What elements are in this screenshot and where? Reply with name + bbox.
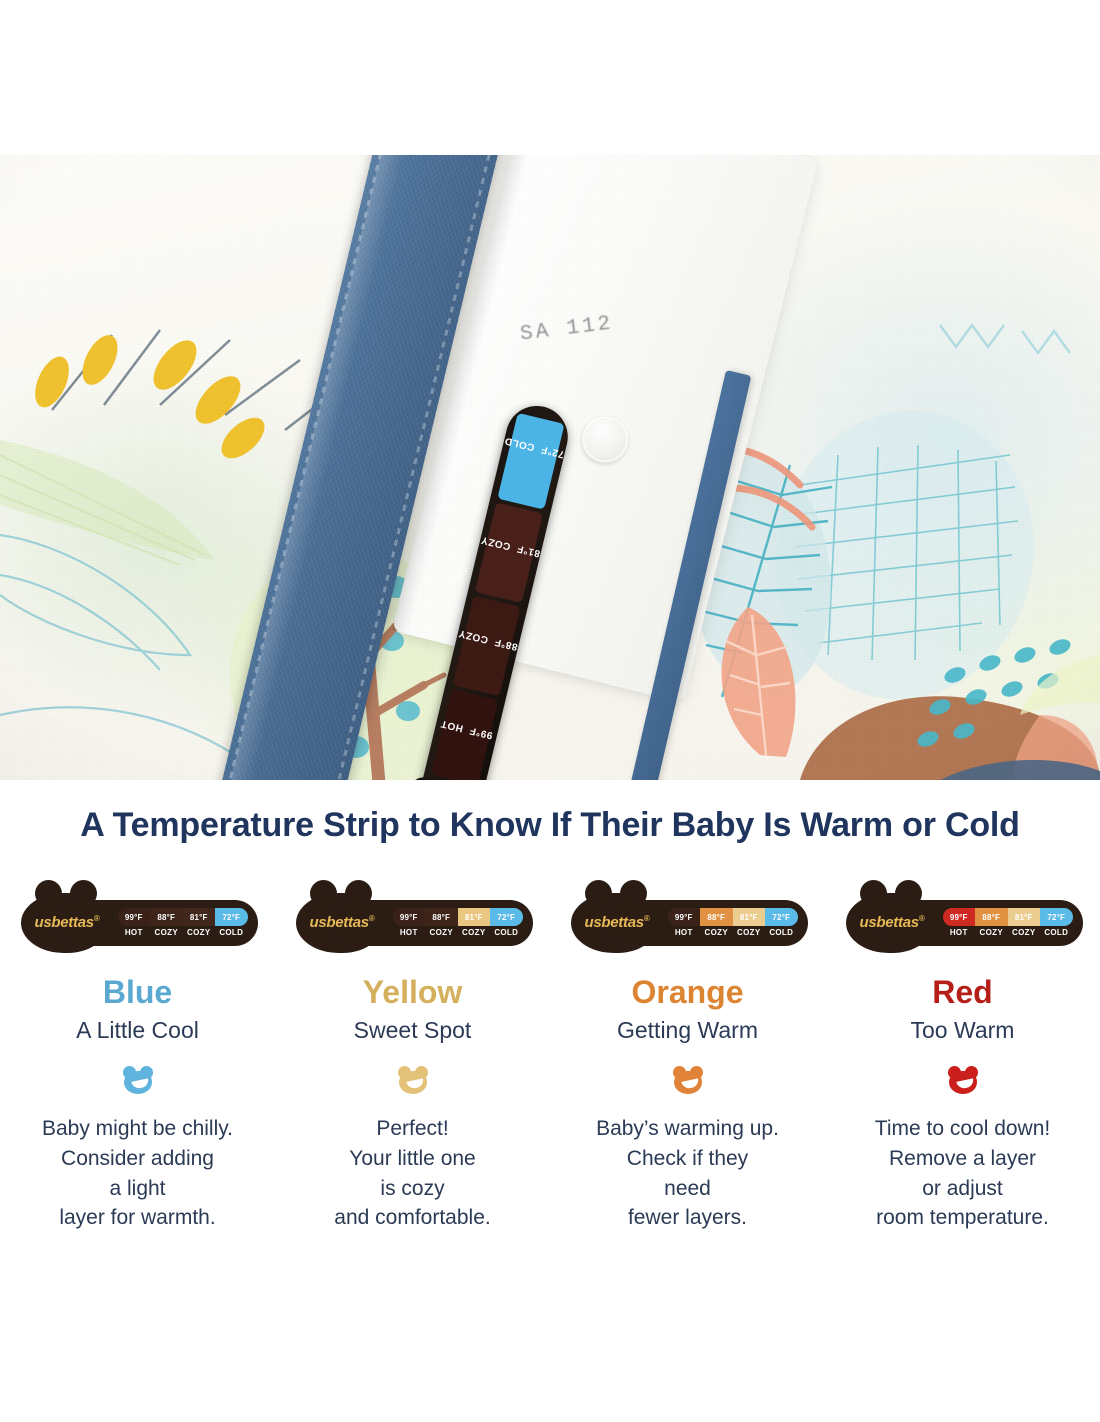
unit-cozy1: COZY — [700, 928, 733, 942]
temperature-card-blue: usbettas® 99°F 88°F 81°F 72°F HOT COZY C… — [0, 876, 275, 1233]
temperature-strip-orange: usbettas® 99°F 88°F 81°F 72°F HOT COZY C… — [563, 876, 813, 956]
strip-units: HOT COZY COZY COLD — [943, 928, 1073, 942]
unit-cozy1: COZY — [975, 928, 1008, 942]
unit-cozy2: COZY — [183, 928, 216, 942]
segment-88: 88°F — [425, 908, 458, 926]
color-subtitle: Sweet Spot — [354, 1017, 472, 1044]
strip-segments: 99°F 88°F 81°F 72°F — [393, 908, 523, 926]
page-title: A Temperature Strip to Know If Their Bab… — [0, 806, 1100, 845]
segment-81: 81°F — [458, 908, 491, 926]
segment-72: 72°F — [1040, 908, 1073, 926]
segment-72: 72°F — [215, 908, 248, 926]
brand-wordmark: usbettas® — [310, 914, 375, 931]
card-description: Perfect! Your little one is cozy and com… — [334, 1114, 490, 1233]
temperature-card-red: usbettas® 99°F 88°F 81°F 72°F HOT COZY C… — [825, 876, 1100, 1233]
card-description: Time to cool down! Remove a layer or adj… — [875, 1114, 1050, 1233]
photo-vignette — [0, 155, 1100, 780]
segment-81: 81°F — [733, 908, 766, 926]
strip-segments: 99°F 88°F 81°F 72°F — [118, 908, 248, 926]
bear-face-icon — [121, 1066, 155, 1094]
segment-72: 72°F — [490, 908, 523, 926]
card-description: Baby might be chilly. Consider adding a … — [42, 1114, 233, 1233]
segment-99: 99°F — [943, 908, 976, 926]
segment-88: 88°F — [150, 908, 183, 926]
product-photo: SA 112 72°F COLD 81°F COZY 88°F COZY 99°… — [0, 155, 1100, 780]
bear-face-icon — [671, 1066, 705, 1094]
unit-hot: HOT — [393, 928, 426, 942]
color-name: Yellow — [363, 974, 463, 1011]
segment-88: 88°F — [700, 908, 733, 926]
segment-72: 72°F — [765, 908, 798, 926]
unit-cozy1: COZY — [425, 928, 458, 942]
unit-hot: HOT — [668, 928, 701, 942]
temperature-card-yellow: usbettas® 99°F 88°F 81°F 72°F HOT COZY C… — [275, 876, 550, 1233]
segment-99: 99°F — [393, 908, 426, 926]
segment-99: 99°F — [668, 908, 701, 926]
unit-cozy2: COZY — [733, 928, 766, 942]
brand-wordmark: usbettas® — [35, 914, 100, 931]
segment-99: 99°F — [118, 908, 151, 926]
unit-cold: COLD — [765, 928, 798, 942]
unit-cold: COLD — [1040, 928, 1073, 942]
unit-hot: HOT — [943, 928, 976, 942]
brand-wordmark: usbettas® — [585, 914, 650, 931]
temperature-strip-red: usbettas® 99°F 88°F 81°F 72°F HOT COZY C… — [838, 876, 1088, 956]
strip-segments: 99°F 88°F 81°F 72°F — [943, 908, 1073, 926]
color-name: Orange — [631, 974, 743, 1011]
unit-cold: COLD — [490, 928, 523, 942]
card-description: Baby’s warming up. Check if they need fe… — [596, 1114, 779, 1233]
color-subtitle: A Little Cool — [76, 1017, 199, 1044]
temperature-guide-cards: usbettas® 99°F 88°F 81°F 72°F HOT COZY C… — [0, 876, 1100, 1233]
brand-wordmark: usbettas® — [860, 914, 925, 931]
temperature-card-orange: usbettas® 99°F 88°F 81°F 72°F HOT COZY C… — [550, 876, 825, 1233]
segment-81: 81°F — [183, 908, 216, 926]
bear-face-icon — [946, 1066, 980, 1094]
unit-cold: COLD — [215, 928, 248, 942]
strip-units: HOT COZY COZY COLD — [118, 928, 248, 942]
segment-88: 88°F — [975, 908, 1008, 926]
strip-units: HOT COZY COZY COLD — [393, 928, 523, 942]
color-name: Blue — [103, 974, 172, 1011]
unit-cozy1: COZY — [150, 928, 183, 942]
unit-hot: HOT — [118, 928, 151, 942]
color-name: Red — [932, 974, 992, 1011]
color-subtitle: Too Warm — [911, 1017, 1015, 1044]
temperature-strip-yellow: usbettas® 99°F 88°F 81°F 72°F HOT COZY C… — [288, 876, 538, 956]
strip-segments: 99°F 88°F 81°F 72°F — [668, 908, 798, 926]
temperature-strip-blue: usbettas® 99°F 88°F 81°F 72°F HOT COZY C… — [13, 876, 263, 956]
unit-cozy2: COZY — [458, 928, 491, 942]
bear-face-icon — [396, 1066, 430, 1094]
strip-units: HOT COZY COZY COLD — [668, 928, 798, 942]
unit-cozy2: COZY — [1008, 928, 1041, 942]
segment-81: 81°F — [1008, 908, 1041, 926]
color-subtitle: Getting Warm — [617, 1017, 758, 1044]
